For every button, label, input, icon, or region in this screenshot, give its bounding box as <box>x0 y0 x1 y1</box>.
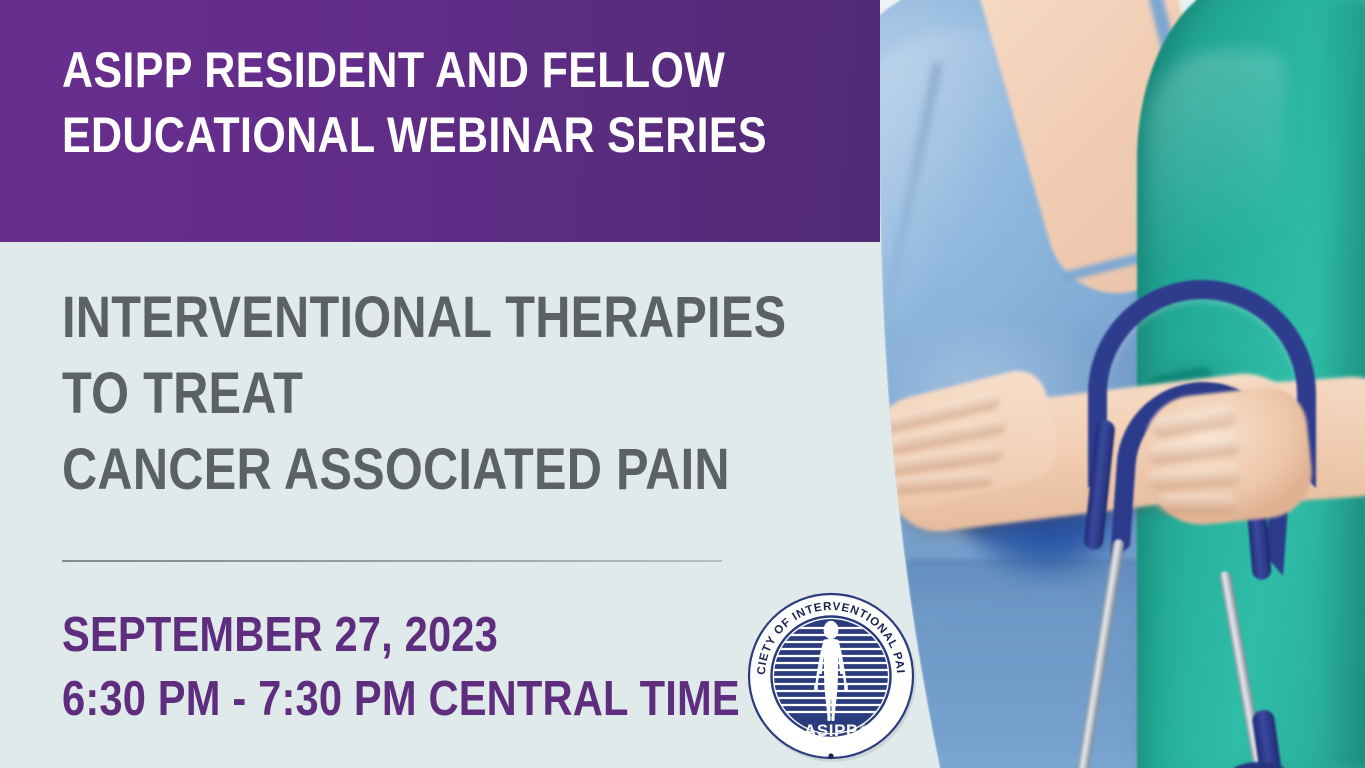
asipp-wordmark: ASIPP <box>804 721 858 740</box>
photo-clip <box>845 0 1365 768</box>
event-time: 6:30 PM - 7:30 PM CENTRAL TIME <box>62 668 725 732</box>
header-band: ASIPP RESIDENT AND FELLOW EDUCATIONAL WE… <box>0 0 880 242</box>
knuckle <box>1157 494 1237 514</box>
page-title: INTERVENTIONAL THERAPIES TO TREAT CANCER… <box>62 280 717 508</box>
divider <box>62 560 722 562</box>
schedule: SEPTEMBER 27, 2023 6:30 PM - 7:30 PM CEN… <box>62 604 725 731</box>
stethoscope-metal-left <box>1076 539 1124 768</box>
event-date: SEPTEMBER 27, 2023 <box>62 604 725 668</box>
asipp-logo: ASIPP ® AMERICAN SOCIETY OF INTERVENTION… <box>745 590 917 762</box>
page-title-line-3: CANCER ASSOCIATED PAIN <box>62 432 717 508</box>
photo-medical-professionals <box>845 0 1365 768</box>
series-title-line-2: EDUCATIONAL WEBINAR SERIES <box>62 103 716 168</box>
series-title-line-1: ASIPP RESIDENT AND FELLOW <box>62 38 716 103</box>
stethoscope-chestpiece <box>1200 762 1318 768</box>
webinar-poster: ASIPP RESIDENT AND FELLOW EDUCATIONAL WE… <box>0 0 1365 768</box>
page-title-line-1: INTERVENTIONAL THERAPIES <box>62 280 717 356</box>
registered-mark: ® <box>860 723 866 732</box>
page-title-line-2: TO TREAT <box>62 356 717 432</box>
series-title: ASIPP RESIDENT AND FELLOW EDUCATIONAL WE… <box>62 38 716 168</box>
